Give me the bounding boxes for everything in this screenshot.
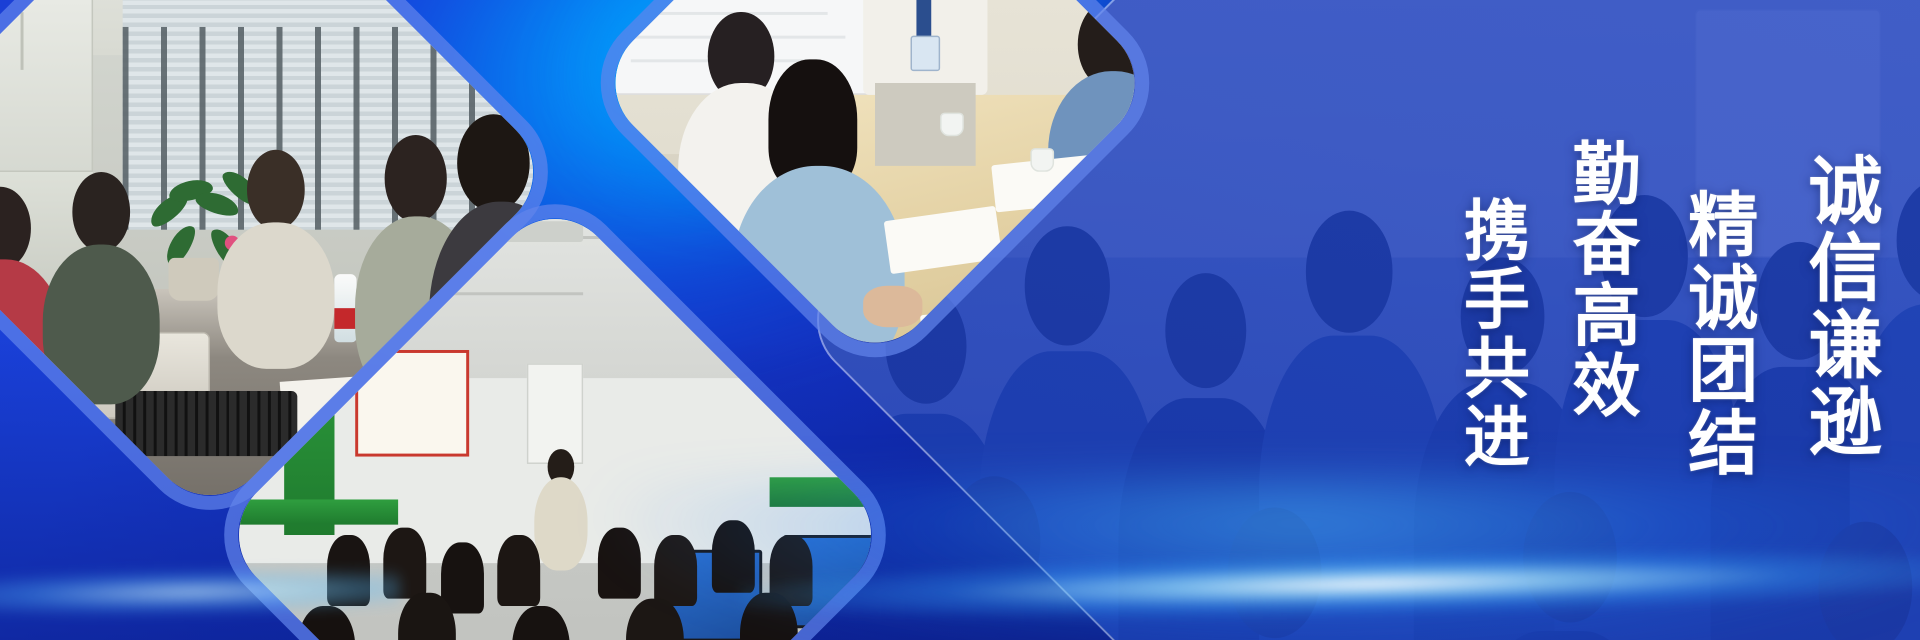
corporate-culture-banner: 诚信谦逊 精诚团结 勤奋高效 携手共进 [0, 0, 1920, 640]
horizon-glow-left [0, 565, 400, 620]
